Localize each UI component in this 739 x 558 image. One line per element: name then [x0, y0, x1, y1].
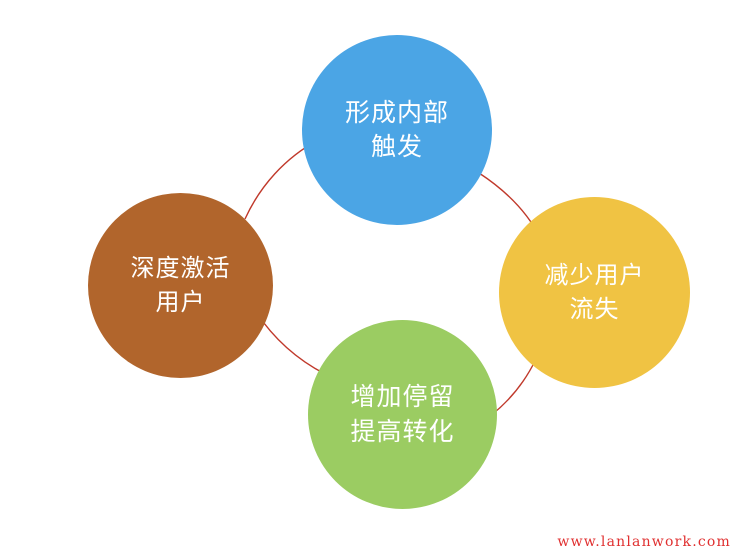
connector-bottom-to-left	[256, 312, 325, 374]
node-right-line-2: 流失	[570, 293, 620, 326]
node-right-line-1: 减少用户	[545, 259, 645, 292]
node-top-line-1: 形成内部	[345, 96, 449, 131]
node-increase-dwell-conversion[interactable]: 增加停留 提高转化	[308, 320, 497, 509]
watermark-url: www.lanlanwork.com	[557, 534, 731, 550]
node-reduce-user-churn[interactable]: 减少用户 流失	[499, 197, 690, 388]
diagram-canvas: 形成内部 触发 减少用户 流失 增加停留 提高转化 深度激活 用户 www.la…	[0, 0, 739, 558]
node-left-line-1: 深度激活	[131, 252, 231, 285]
node-top-line-2: 触发	[371, 130, 423, 165]
node-left-line-2: 用户	[156, 286, 206, 319]
node-form-internal-trigger[interactable]: 形成内部 触发	[302, 35, 492, 225]
node-deep-activate-users[interactable]: 深度激活 用户	[88, 193, 273, 378]
node-bottom-line-2: 提高转化	[350, 415, 454, 450]
node-bottom-line-1: 增加停留	[350, 380, 454, 415]
